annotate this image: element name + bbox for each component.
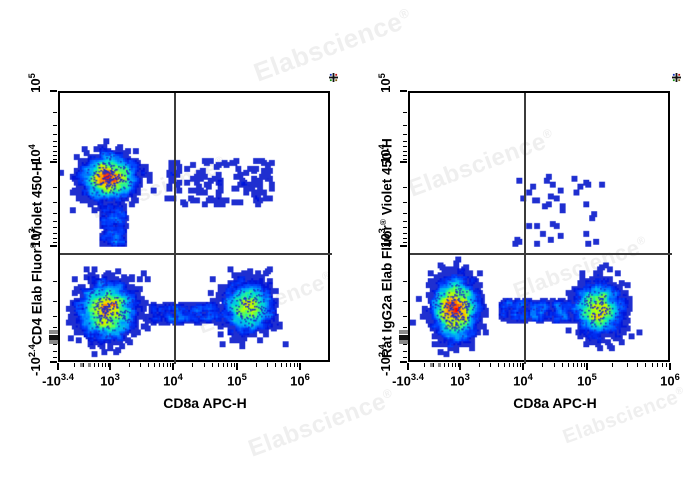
axis-tick	[299, 363, 301, 370]
axis-tick	[403, 134, 407, 135]
axis-tick	[53, 357, 57, 358]
axis-tick	[53, 202, 57, 203]
axis-tick	[105, 363, 106, 367]
axis-tick	[53, 125, 57, 126]
axis-tick	[403, 233, 407, 234]
axis-tick	[430, 363, 433, 367]
axis-tick	[53, 233, 57, 234]
axis-tick	[53, 242, 57, 243]
axis-tick	[403, 357, 407, 358]
axis-tick	[49, 340, 58, 344]
quadrant-line-horizontal-right[interactable]	[410, 253, 672, 255]
axis-tick	[297, 363, 298, 367]
axis-tick	[403, 125, 407, 126]
axis-tick	[400, 245, 407, 247]
axis-tick	[522, 363, 524, 370]
axis-tick	[53, 227, 57, 228]
axis-tick	[438, 363, 441, 367]
y-axis-title-left: CD4 Elab Fluor® Violet 450-H	[28, 161, 45, 345]
axis-tick	[98, 363, 99, 367]
axis-tick	[542, 363, 543, 367]
x-axis-title-left: CD8a APC-H	[163, 395, 247, 411]
axis-tick	[53, 146, 57, 147]
axis-tick	[403, 221, 407, 222]
axis-tick	[669, 363, 671, 370]
axis-tick	[637, 363, 638, 367]
x-tick-label-0: -103.4	[42, 372, 74, 388]
watermark-6: Elabscience®	[560, 384, 688, 450]
axis-tick	[286, 363, 287, 367]
axis-tick	[509, 363, 510, 367]
axis-tick	[403, 316, 407, 317]
dot-plot-canvas-right	[410, 93, 668, 360]
y-tick-label-0: 105	[377, 73, 393, 107]
axis-tick	[53, 351, 57, 352]
axis-tick	[403, 213, 407, 214]
axis-tick	[645, 363, 646, 367]
axis-tick	[403, 301, 407, 302]
axis-tick	[403, 112, 407, 113]
axis-tick	[513, 363, 514, 367]
axis-tick	[170, 363, 171, 367]
axis-tick	[433, 363, 434, 367]
x-tick-label-2: 104	[163, 372, 183, 388]
x-axis-title-right: CD8a APC-H	[513, 395, 597, 411]
x-tick-label-4: 106	[660, 372, 680, 388]
axis-tick	[403, 202, 407, 203]
axis-tick	[399, 335, 408, 340]
axis-tick	[140, 363, 141, 367]
axis-tick	[568, 363, 569, 367]
axis-tick	[74, 363, 75, 367]
axis-tick	[49, 335, 58, 340]
axis-tick	[172, 363, 174, 370]
axis-tick	[399, 340, 408, 344]
axis-tick	[444, 363, 445, 367]
axis-tick	[448, 363, 449, 367]
axis-tick	[223, 363, 224, 367]
x-tick-label-3: 105	[227, 372, 247, 388]
axis-tick	[83, 363, 84, 367]
axis-tick	[154, 363, 155, 367]
plot-frame-right	[408, 91, 670, 362]
watermark-5: Elabscience®	[245, 385, 399, 464]
x-tick-label-2: 104	[513, 372, 533, 388]
axis-tick	[652, 363, 653, 367]
axis-tick	[53, 112, 57, 113]
axis-tick	[50, 245, 57, 247]
axis-tick	[236, 363, 238, 370]
axis-tick	[227, 363, 228, 367]
axis-tick	[53, 141, 57, 142]
axis-tick	[400, 161, 407, 163]
axis-tick	[53, 327, 57, 328]
axis-tick	[612, 363, 613, 367]
axis-tick	[212, 363, 213, 367]
axis-tick	[403, 344, 407, 345]
dot-plot-canvas-left	[60, 93, 328, 360]
axis-tick	[204, 363, 205, 367]
axis-tick	[53, 301, 57, 302]
asterisk-marker-right	[672, 73, 681, 82]
axis-tick	[520, 363, 521, 367]
axis-tick	[662, 363, 663, 367]
axis-tick	[53, 316, 57, 317]
asterisk-marker-left	[329, 73, 338, 82]
axis-tick	[452, 363, 453, 367]
axis-tick	[577, 363, 578, 367]
axis-tick	[290, 363, 291, 367]
axis-tick	[256, 363, 257, 367]
axis-tick	[403, 238, 407, 239]
axis-tick	[403, 159, 407, 160]
axis-tick	[459, 363, 461, 370]
axis-tick	[129, 363, 130, 367]
axis-tick	[267, 363, 268, 367]
axis-tick	[53, 344, 57, 345]
axis-tick	[57, 363, 59, 370]
plot-frame-left	[58, 91, 330, 362]
x-tick-label-1: 103	[450, 372, 470, 388]
axis-tick	[275, 363, 276, 367]
axis-tick	[218, 363, 219, 367]
axis-tick	[80, 363, 83, 367]
quadrant-line-horizontal-left[interactable]	[60, 253, 332, 255]
axis-tick	[53, 159, 57, 160]
x-tick-label-4: 106	[290, 372, 310, 388]
axis-tick	[403, 141, 407, 142]
axis-tick	[424, 363, 425, 367]
axis-tick	[504, 363, 505, 367]
axis-tick	[102, 363, 103, 367]
axis-tick	[53, 238, 57, 239]
axis-tick	[53, 187, 57, 188]
axis-tick	[586, 363, 588, 370]
axis-tick	[88, 363, 91, 367]
axis-tick	[403, 227, 407, 228]
axis-tick	[281, 363, 282, 367]
x-tick-label-3: 105	[577, 372, 597, 388]
axis-tick	[403, 351, 407, 352]
axis-tick	[109, 363, 111, 370]
axis-tick	[50, 161, 57, 163]
axis-tick	[403, 327, 407, 328]
y-tick-label-0: 105	[27, 73, 43, 107]
y-tick-label-3: -102.4	[27, 344, 43, 378]
axis-tick	[50, 361, 57, 363]
axis-tick	[562, 363, 563, 367]
axis-tick	[573, 363, 574, 367]
axis-tick	[455, 363, 456, 367]
axis-tick	[399, 330, 408, 334]
axis-tick	[554, 363, 555, 367]
axis-tick	[517, 363, 518, 367]
axis-tick	[400, 90, 407, 92]
axis-tick	[53, 213, 57, 214]
axis-tick	[53, 134, 57, 135]
axis-tick	[403, 146, 407, 147]
axis-tick	[581, 363, 582, 367]
axis-tick	[479, 363, 480, 367]
axis-tick	[231, 363, 232, 367]
axis-tick	[94, 363, 95, 367]
axis-tick	[163, 363, 164, 367]
axis-tick	[407, 363, 409, 370]
axis-tick	[627, 363, 628, 367]
axis-tick	[167, 363, 168, 367]
axis-tick	[192, 363, 193, 367]
axis-tick	[490, 363, 491, 367]
y-axis-title-right: Rat IgG2a Elab Fluor® Violet 450-H	[378, 138, 395, 358]
axis-tick	[294, 363, 295, 367]
axis-tick	[403, 242, 407, 243]
axis-tick	[403, 187, 407, 188]
axis-tick	[148, 363, 149, 367]
axis-tick	[403, 281, 407, 282]
figure-canvas: Elabscience®Elabscience®Elabscience®Elab…	[0, 0, 688, 490]
axis-tick	[53, 221, 57, 222]
axis-tick	[666, 363, 667, 367]
axis-tick	[657, 363, 658, 367]
axis-tick	[159, 363, 160, 367]
axis-tick	[53, 151, 57, 152]
axis-tick	[400, 361, 407, 363]
axis-tick	[53, 155, 57, 156]
axis-tick	[584, 363, 585, 367]
x-tick-label-1: 103	[100, 372, 120, 388]
axis-tick	[49, 330, 58, 334]
axis-tick	[498, 363, 499, 367]
quadrant-line-vertical-left[interactable]	[174, 93, 176, 364]
axis-tick	[50, 90, 57, 92]
axis-tick	[234, 363, 235, 367]
axis-tick	[403, 155, 407, 156]
x-tick-label-0: -103.4	[392, 372, 424, 388]
axis-tick	[403, 151, 407, 152]
axis-tick	[53, 281, 57, 282]
quadrant-line-vertical-right[interactable]	[524, 93, 526, 364]
